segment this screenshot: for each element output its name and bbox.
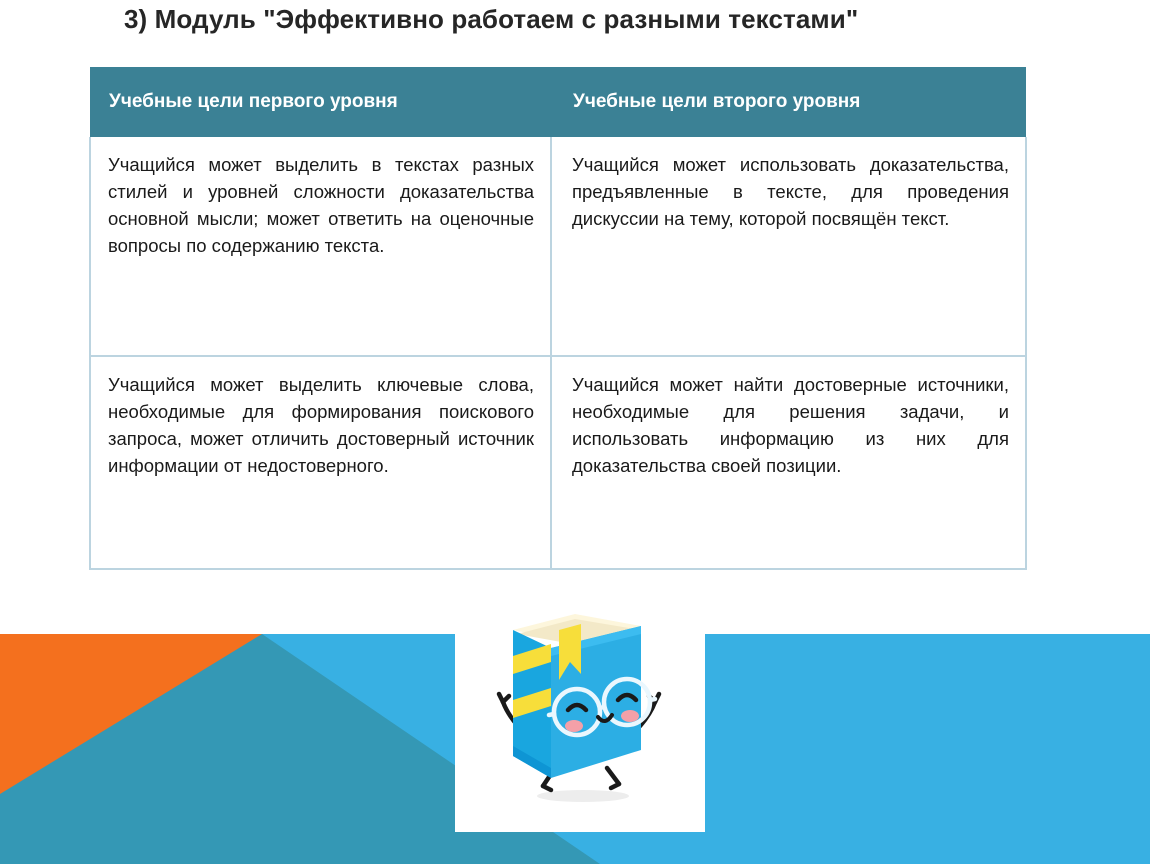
table-row: Учащийся может выделить в текстах разных… xyxy=(90,137,1026,356)
page-title: 3) Модуль "Эффективно работаем с разными… xyxy=(124,4,1024,35)
cell-row1-first-level: Учащийся может выделить в текстах разных… xyxy=(90,137,551,356)
glasses-right-temple xyxy=(650,699,655,700)
right-leg-icon xyxy=(607,768,619,788)
glasses-left-temple xyxy=(549,714,554,715)
table-header-row: Учебные цели первого уровня Учебные цели… xyxy=(90,67,1026,137)
cell-row1-second-level: Учащийся может использовать доказательст… xyxy=(551,137,1026,356)
left-cheek xyxy=(565,720,583,732)
glasses-bridge xyxy=(600,707,604,708)
book-illustration-panel xyxy=(455,600,705,832)
table-row: Учащийся может выделить ключевые слова, … xyxy=(90,356,1026,569)
column-header-first-level: Учебные цели первого уровня xyxy=(90,67,551,137)
column-header-second-level: Учебные цели второго уровня xyxy=(551,67,1026,137)
cell-row2-second-level: Учащийся может найти достоверные источни… xyxy=(551,356,1026,569)
cell-row2-first-level: Учащийся может выделить ключевые слова, … xyxy=(90,356,551,569)
book-character-icon xyxy=(455,600,705,832)
learning-goals-table: Учебные цели первого уровня Учебные цели… xyxy=(89,67,1027,570)
right-cheek xyxy=(621,710,639,722)
